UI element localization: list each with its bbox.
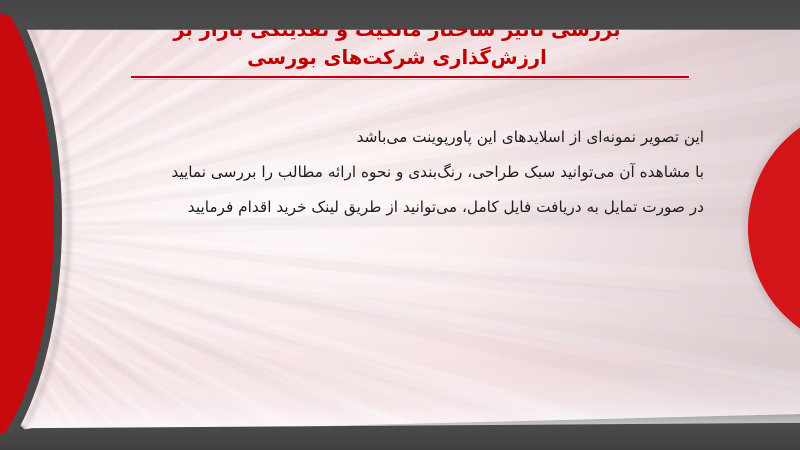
body-line-2: با مشاهده آن می‌توانید سبک طراحی، رنگ‌بن… (94, 155, 704, 190)
presentation-slide: بررسی تأثیر ساختار مالکیت و نقدینگی بازا… (0, 0, 800, 450)
title-divider-rule (131, 76, 689, 78)
slide-body-text: این تصویر نمونه‌ای از اسلایدهای این پاور… (94, 120, 704, 225)
body-line-1: این تصویر نمونه‌ای از اسلایدهای این پاور… (94, 120, 704, 155)
title-divider-shadow (133, 79, 691, 80)
slide-title-line-2: ارزش‌گذاری شرکت‌های بورسی (52, 44, 742, 72)
body-line-3: در صورت تمایل به دریافت فایل کامل، می‌تو… (94, 190, 704, 225)
top-gray-band (0, 0, 800, 30)
